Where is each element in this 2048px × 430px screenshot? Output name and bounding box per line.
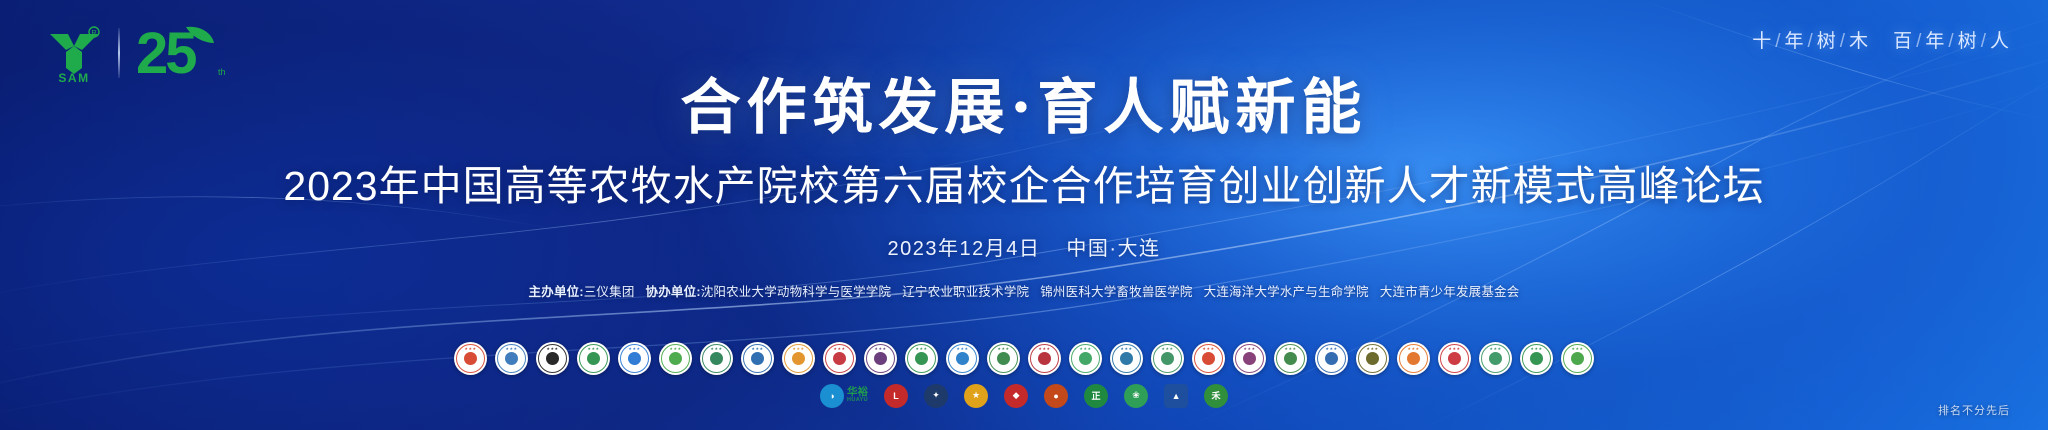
seal-emblem [464, 352, 477, 365]
university-seal-25: ★★★ [1438, 342, 1471, 375]
coorganizer-1: 沈阳农业大学动物科学与医学学院 [701, 285, 892, 299]
seal-emblem [1038, 352, 1051, 365]
seal-stars: ★★★ [577, 346, 610, 351]
company-9: ▲ [1164, 382, 1188, 409]
seal-emblem [1366, 352, 1379, 365]
seal-stars: ★★★ [905, 346, 938, 351]
seal-stars: ★★★ [1520, 346, 1553, 351]
university-seal-15: ★★★ [1028, 342, 1061, 375]
university-seal-11: ★★★ [864, 342, 897, 375]
seal-emblem [833, 352, 846, 365]
seal-stars: ★★★ [1397, 346, 1430, 351]
title-block: 合作筑发展·育人赋新能 2023年中国高等农牧水产院校第六届校企合作培育创业创新… [0, 0, 2048, 300]
seal-stars: ★★★ [1110, 346, 1143, 351]
seal-stars: ★★★ [1151, 346, 1184, 351]
company-5: ◆ [1004, 382, 1028, 409]
seal-emblem [1202, 352, 1215, 365]
university-seal-23: ★★★ [1356, 342, 1389, 375]
seal-emblem [669, 352, 682, 365]
seal-emblem [1489, 352, 1502, 365]
seal-emblem [1325, 352, 1338, 365]
seal-stars: ★★★ [495, 346, 528, 351]
seal-emblem [915, 352, 928, 365]
company-8: ❀ [1124, 382, 1148, 409]
host-label: 主办单位: [529, 285, 584, 299]
seal-stars: ★★★ [1561, 346, 1594, 351]
university-seal-13: ★★★ [946, 342, 979, 375]
university-seal-18: ★★★ [1151, 342, 1184, 375]
university-seal-7: ★★★ [700, 342, 733, 375]
seal-emblem [1243, 352, 1256, 365]
company-mark-icon: ● [1044, 384, 1068, 408]
company-wordmark-en: HUAYU [847, 398, 868, 404]
company-10: 禾 [1204, 382, 1228, 409]
university-seal-22: ★★★ [1315, 342, 1348, 375]
company-mark-icon: ◆ [1004, 384, 1028, 408]
coorganizer-2: 辽宁农业职业技术学院 [902, 285, 1029, 299]
university-seal-4: ★★★ [577, 342, 610, 375]
seal-stars: ★★★ [1356, 346, 1389, 351]
company-mark-icon: ▲ [1164, 384, 1188, 408]
company-4: ★ [964, 382, 988, 409]
seal-emblem [874, 352, 887, 365]
company-mark-icon: ❀ [1124, 384, 1148, 408]
seal-stars: ★★★ [1233, 346, 1266, 351]
university-seal-14: ★★★ [987, 342, 1020, 375]
company-mark-icon: 禾 [1204, 384, 1228, 408]
rank-note: 排名不分先后 [1938, 402, 2010, 418]
company-3: ✦ [924, 382, 948, 409]
seal-emblem [710, 352, 723, 365]
seal-emblem [505, 352, 518, 365]
event-date: 2023年12月4日 [887, 238, 1040, 260]
seal-emblem [1284, 352, 1297, 365]
university-seal-12: ★★★ [905, 342, 938, 375]
seal-stars: ★★★ [1438, 346, 1471, 351]
seal-stars: ★★★ [1028, 346, 1061, 351]
university-seal-5: ★★★ [618, 342, 651, 375]
coorganizer-4: 大连海洋大学水产与生命学院 [1204, 285, 1369, 299]
university-seal-2: ★★★ [495, 342, 528, 375]
company-7: 正 [1084, 382, 1108, 409]
seal-stars: ★★★ [823, 346, 856, 351]
company-6: ● [1044, 382, 1068, 409]
event-location: 中国·大连 [1066, 238, 1160, 260]
seal-emblem [1571, 352, 1584, 365]
seal-stars: ★★★ [741, 346, 774, 351]
seal-emblem [1120, 352, 1133, 365]
seal-emblem [628, 352, 641, 365]
seal-stars: ★★★ [987, 346, 1020, 351]
seal-stars: ★★★ [1315, 346, 1348, 351]
seal-emblem [1407, 352, 1420, 365]
university-seal-26: ★★★ [1479, 342, 1512, 375]
university-seal-17: ★★★ [1110, 342, 1143, 375]
seal-emblem [546, 352, 559, 365]
company-2: L [884, 382, 908, 409]
seal-stars: ★★★ [1069, 346, 1102, 351]
coorganizer-label: 协办单位: [646, 285, 701, 299]
seal-stars: ★★★ [946, 346, 979, 351]
university-seal-3: ★★★ [536, 342, 569, 375]
seal-emblem [956, 352, 969, 365]
seal-emblem [751, 352, 764, 365]
company-mark-icon: ✦ [924, 384, 948, 408]
organizers-line: 主办单位:三仪集团协办单位:沈阳农业大学动物科学与医学学院辽宁农业职业技术学院锦… [0, 281, 2048, 300]
university-seal-8: ★★★ [741, 342, 774, 375]
seal-emblem [997, 352, 1010, 365]
huayu-logo: ◑华裕HUAYU [820, 382, 868, 409]
university-seal-20: ★★★ [1233, 342, 1266, 375]
company-mark-icon: ◑ [820, 384, 844, 408]
company-mark-icon: L [884, 384, 908, 408]
university-seal-21: ★★★ [1274, 342, 1307, 375]
seal-emblem [1530, 352, 1543, 365]
seal-emblem [792, 352, 805, 365]
university-seal-6: ★★★ [659, 342, 692, 375]
university-seal-24: ★★★ [1397, 342, 1430, 375]
seal-stars: ★★★ [1192, 346, 1225, 351]
seal-stars: ★★★ [618, 346, 651, 351]
university-seal-16: ★★★ [1069, 342, 1102, 375]
sub-title: 2023年中国高等农牧水产院校第六届校企合作培育创业创新人才新模式高峰论坛 [0, 152, 2048, 212]
university-seal-19: ★★★ [1192, 342, 1225, 375]
host-value: 三仪集团 [584, 285, 635, 299]
seal-emblem [1161, 352, 1174, 365]
university-seal-10: ★★★ [823, 342, 856, 375]
university-seal-28: ★★★ [1561, 342, 1594, 375]
seal-stars: ★★★ [1274, 346, 1307, 351]
company-wordmark: 华裕HUAYU [847, 387, 868, 404]
company-mark-icon: ★ [964, 384, 988, 408]
seal-emblem [587, 352, 600, 365]
seal-emblem [1448, 352, 1461, 365]
seal-stars: ★★★ [536, 346, 569, 351]
coorganizer-5: 大连市青少年发展基金会 [1380, 285, 1520, 299]
university-seal-9: ★★★ [782, 342, 815, 375]
seal-stars: ★★★ [782, 346, 815, 351]
seal-stars: ★★★ [700, 346, 733, 351]
seal-emblem [1079, 352, 1092, 365]
conference-banner: R SAM 25 th 十/年/树/木百/年/树/人 合作筑发展·育人赋新能 2… [0, 0, 2048, 430]
main-title: 合作筑发展·育人赋新能 [0, 78, 2048, 138]
seal-stars: ★★★ [454, 346, 487, 351]
seal-stars: ★★★ [1479, 346, 1512, 351]
coorganizer-3: 锦州医科大学畜牧兽医学院 [1040, 285, 1192, 299]
seal-stars: ★★★ [659, 346, 692, 351]
university-seal-1: ★★★ [454, 342, 487, 375]
seal-stars: ★★★ [864, 346, 897, 351]
university-logo-row: ★★★★★★★★★★★★★★★★★★★★★★★★★★★★★★★★★★★★★★★★… [0, 342, 2048, 375]
company-logo-row: ◑华裕HUAYUL✦★◆●正❀▲禾 [0, 382, 2048, 409]
company-mark-icon: 正 [1084, 384, 1108, 408]
date-location-line: 2023年12月4日中国·大连 [0, 232, 2048, 261]
university-seal-27: ★★★ [1520, 342, 1553, 375]
